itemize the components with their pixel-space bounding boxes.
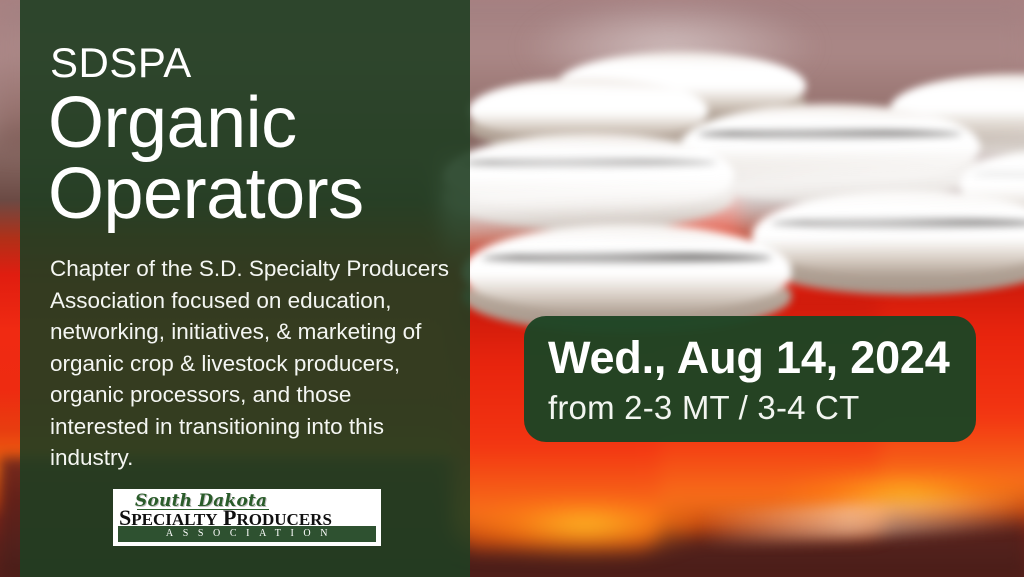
page-title-line-2: Operators [48,159,364,230]
organization-acronym: SDSPA [50,42,192,84]
sdspa-logo: South Dakota SPECIALTY PRODUCERS ASSOCIA… [113,489,381,546]
event-date-badge: Wed., Aug 14, 2024 from 2-3 MT / 3-4 CT [524,316,976,442]
event-date: Wed., Aug 14, 2024 [548,330,976,386]
promo-graphic: SDSPA Organic Operators Chapter of the S… [0,0,1024,577]
event-time: from 2-3 MT / 3-4 CT [548,386,976,430]
page-title-line-1: Organic [48,83,297,163]
logo-association-bar: ASSOCIATION [118,526,376,542]
description-paragraph: Chapter of the S.D. Specialty Producers … [50,253,450,474]
page-title: Organic Operators [48,88,364,231]
